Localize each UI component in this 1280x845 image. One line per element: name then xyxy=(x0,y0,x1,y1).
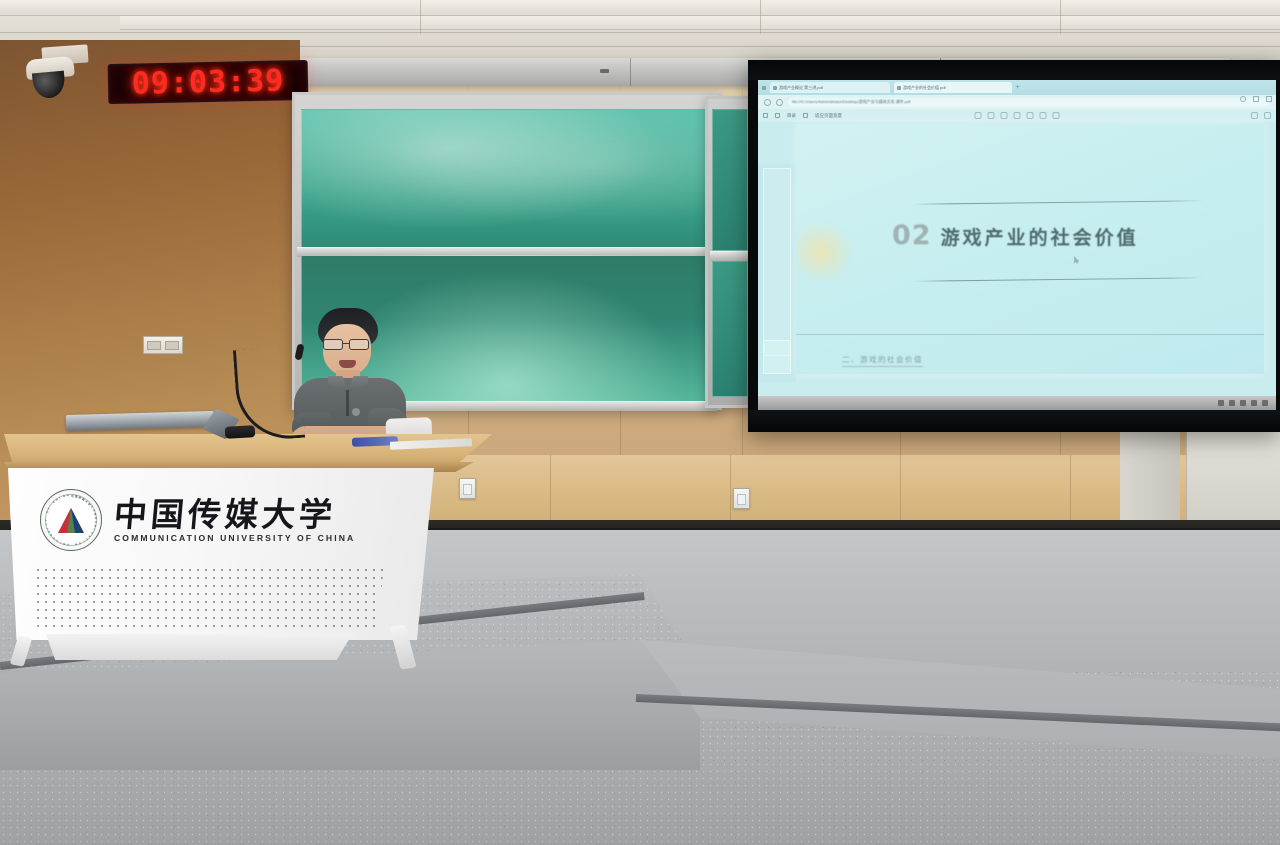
minimize-icon[interactable] xyxy=(1240,96,1246,102)
blackboard-side-lower xyxy=(712,261,748,397)
pdf-thumbnail[interactable] xyxy=(763,168,791,356)
zoom-in-icon[interactable] xyxy=(988,112,995,119)
university-name-cn: 中国传媒大学 xyxy=(113,498,357,531)
lecture-hall-scene: 09:03:39 游戏产业概论 第三讲.pdf xyxy=(0,0,1280,845)
tab-favicon-icon xyxy=(773,86,777,90)
address-input[interactable]: file:///C:/Users/Administrator/Desktop/游… xyxy=(788,98,1270,107)
pdf-toolbar-right-buttons xyxy=(1251,112,1271,119)
slide-page: 02 游戏产业的社会价值 二、游戏的社会价值 xyxy=(796,124,1264,374)
plaque-text-block: 中国传媒大学 COMMUNICATION UNIVERSITY OF CHINA xyxy=(114,498,355,543)
maximize-icon[interactable] xyxy=(1253,96,1259,102)
browser-tab-bar: 游戏产业概论 第三讲.pdf 游戏产业的社会价值.pdf + xyxy=(758,80,1276,95)
wall-control-panel[interactable] xyxy=(143,336,183,354)
tab-favicon-icon xyxy=(897,86,901,90)
new-tab-button[interactable]: + xyxy=(1016,85,1020,91)
pdf-sidebar[interactable] xyxy=(758,164,796,382)
speaker-face xyxy=(323,324,371,376)
zoom-out-icon[interactable] xyxy=(975,112,982,119)
slide-footer-divider xyxy=(796,334,1264,335)
clock-time-display: 09:03:39 xyxy=(131,63,284,101)
thumbnail-icon[interactable] xyxy=(775,113,780,118)
pdf-viewer-toolbar: 目录 适应页面宽度 xyxy=(758,109,1276,122)
browser-address-bar: file:///C:/Users/Administrator/Desktop/游… xyxy=(758,95,1276,109)
blackboard-side-rail xyxy=(710,251,750,261)
more-icon[interactable] xyxy=(1264,112,1271,119)
browser-tab[interactable]: 游戏产业概论 第三讲.pdf xyxy=(770,82,890,93)
browser-menu-icon[interactable] xyxy=(762,86,766,90)
refresh-icon[interactable] xyxy=(803,113,808,118)
pdf-toolbar-center-buttons xyxy=(975,112,1060,119)
sidebar-toggle-icon[interactable] xyxy=(763,113,768,118)
university-name-en: COMMUNICATION UNIVERSITY OF CHINA xyxy=(114,533,355,543)
wall-outlet[interactable] xyxy=(733,488,750,509)
pdf-toolbar-fit-label[interactable]: 适应页面宽度 xyxy=(815,113,842,119)
rotate-left-icon[interactable] xyxy=(1014,112,1021,119)
emblem-ring-text: 中国传媒大学COMMUNICATION UNIVERSITY OF CHINA xyxy=(41,490,101,550)
browser-tab-label: 游戏产业的社会价值.pdf xyxy=(903,85,946,91)
eyeglasses-icon xyxy=(321,339,373,350)
screen-bezel-bottom xyxy=(748,410,1280,432)
taskbar-app-icon[interactable] xyxy=(1240,400,1246,406)
microphone-base xyxy=(225,425,256,439)
browser-tab-label: 游戏产业概论 第三讲.pdf xyxy=(779,85,823,91)
mouse-cursor-icon xyxy=(1074,256,1079,264)
slide-section-title: 游戏产业的社会价值 xyxy=(941,223,1139,250)
glasses-lens-left xyxy=(323,339,343,350)
projection-screen: 游戏产业概论 第三讲.pdf 游戏产业的社会价值.pdf + file:///C… xyxy=(748,60,1280,432)
shirt-placket xyxy=(346,390,349,416)
pdf-content-area: 02 游戏产业的社会价值 二、游戏的社会价值 xyxy=(758,122,1276,396)
rotate-right-icon[interactable] xyxy=(1027,112,1034,119)
os-taskbar xyxy=(758,396,1276,410)
slide-rule-top xyxy=(914,200,1202,205)
podium-speaker-grille xyxy=(34,566,384,628)
screen-bezel-top xyxy=(748,60,1280,80)
close-icon[interactable] xyxy=(1266,96,1272,102)
browser-tab-active[interactable]: 游戏产业的社会价值.pdf xyxy=(894,82,1012,93)
slide-section-number: 02 xyxy=(892,220,932,251)
taskbar-app-icon[interactable] xyxy=(1262,400,1268,406)
slide-rule-bottom xyxy=(914,277,1202,282)
speaker-mouth xyxy=(339,360,356,368)
shirt-badge xyxy=(352,408,360,416)
slide-decor-blob xyxy=(796,220,854,284)
university-emblem-icon: 中国传媒大学COMMUNICATION UNIVERSITY OF CHINA xyxy=(40,489,102,551)
slide-footer-note: 二、游戏的社会价值 xyxy=(842,354,923,367)
wall-vent-panel xyxy=(1186,430,1280,534)
glasses-lens-right xyxy=(349,339,369,350)
home-icon[interactable] xyxy=(776,99,783,106)
pdf-thumbnail[interactable] xyxy=(763,340,791,374)
pdf-toolbar-sidebar-label[interactable]: 目录 xyxy=(787,113,796,119)
download-icon[interactable] xyxy=(1251,112,1258,119)
taskbar-app-icon[interactable] xyxy=(1251,400,1257,406)
wall-outlet[interactable] xyxy=(459,478,476,499)
led-wall-clock: 09:03:39 xyxy=(108,60,309,104)
taskbar-app-icon[interactable] xyxy=(1218,400,1224,406)
screen-display-area: 游戏产业概论 第三讲.pdf 游戏产业的社会价值.pdf + file:///C… xyxy=(758,80,1276,410)
blackboard-side-upper xyxy=(712,109,748,251)
print-icon[interactable] xyxy=(1053,112,1060,119)
reload-icon[interactable] xyxy=(764,99,771,106)
fit-page-icon[interactable] xyxy=(1001,112,1008,119)
slide-headline: 02 游戏产业的社会价值 xyxy=(892,220,1139,251)
search-icon[interactable] xyxy=(1040,112,1047,119)
podium-base xyxy=(46,634,352,660)
window-controls xyxy=(1240,96,1272,102)
blackboard-upper-panel xyxy=(301,109,713,249)
podium-institution-plaque: 中国传媒大学COMMUNICATION UNIVERSITY OF CHINA … xyxy=(40,478,390,562)
taskbar-app-icon[interactable] xyxy=(1229,400,1235,406)
